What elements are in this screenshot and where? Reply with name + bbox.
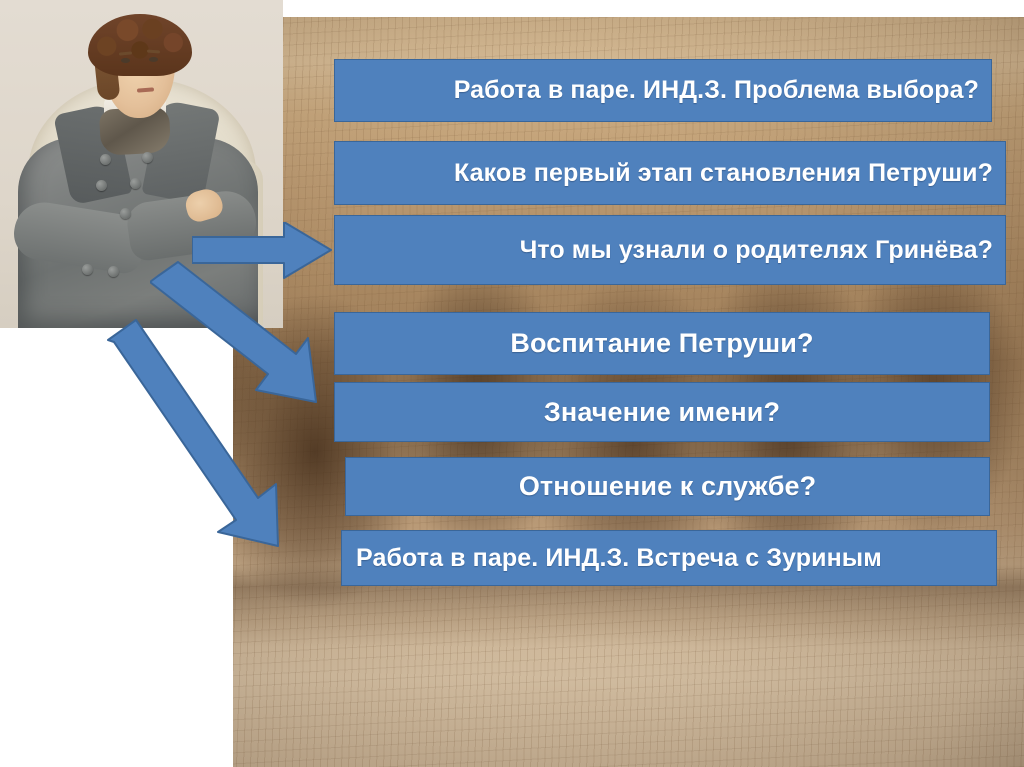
question-box-3[interactable]: Что мы узнали о родителях Гринёва?: [334, 215, 1006, 285]
question-box-1-label: Работа в паре. ИНД.З. Проблема выбора?: [454, 76, 979, 105]
coat-button: [96, 180, 107, 191]
eye-left: [121, 58, 130, 63]
arrow-down-right-long-icon: [100, 318, 320, 553]
question-box-2-label: Каков первый этап становления Петруши?: [454, 159, 993, 188]
slide-canvas: Работа в паре. ИНД.З. Проблема выбора? К…: [0, 0, 1024, 767]
question-box-2[interactable]: Каков первый этап становления Петруши?: [334, 141, 1006, 205]
coat-button: [142, 152, 153, 163]
question-box-5[interactable]: Значение имени?: [334, 382, 990, 442]
coat-button: [120, 208, 131, 219]
question-box-4[interactable]: Воспитание Петруши?: [334, 312, 990, 375]
question-box-4-label: Воспитание Петруши?: [510, 328, 813, 359]
question-box-6[interactable]: Отношение к службе?: [345, 457, 990, 516]
coat-button: [100, 154, 111, 165]
question-box-7[interactable]: Работа в паре. ИНД.З. Встреча с Зуриным: [341, 530, 997, 586]
question-box-6-label: Отношение к службе?: [519, 471, 816, 502]
question-box-5-label: Значение имени?: [544, 397, 780, 428]
coat-button: [82, 264, 93, 275]
eye-right: [149, 57, 158, 62]
curly-hair: [88, 14, 192, 76]
coat-button: [108, 266, 119, 277]
question-box-7-label: Работа в паре. ИНД.З. Встреча с Зуриным: [356, 544, 882, 573]
coat-button: [130, 178, 141, 189]
question-box-3-label: Что мы узнали о родителях Гринёва?: [520, 236, 993, 265]
question-box-1[interactable]: Работа в паре. ИНД.З. Проблема выбора?: [334, 59, 992, 122]
white-margin-top: [282, 0, 1024, 17]
